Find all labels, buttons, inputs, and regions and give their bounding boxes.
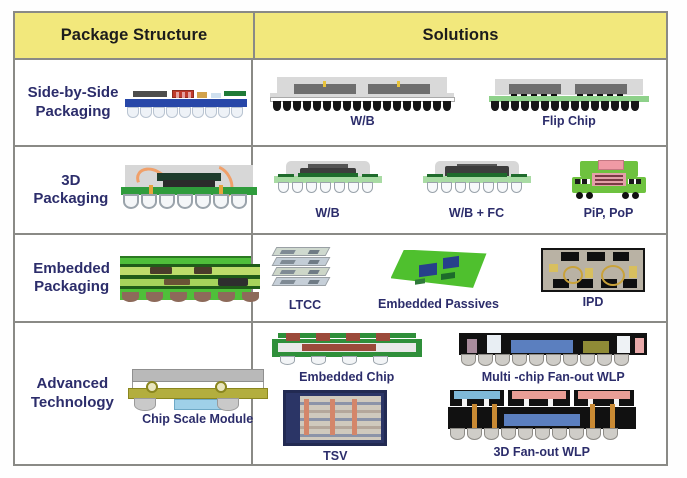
solution-caption: 3D Fan-out WLP bbox=[493, 445, 590, 459]
embedded-multilayer-pcb-cross-section-icon bbox=[120, 256, 251, 300]
solution-item: IPD bbox=[541, 248, 645, 309]
structure-cell-embedded-packaging: Embedded Packaging bbox=[15, 235, 253, 321]
solution-item: Embedded Passives bbox=[378, 246, 499, 311]
solution-caption: Multi -chip Fan-out WLP bbox=[482, 370, 625, 384]
row-label-embedded-packaging: Embedded Packaging bbox=[23, 260, 120, 297]
solution-caption: IPD bbox=[583, 295, 604, 309]
side-by-side-package-cross-section-icon bbox=[125, 85, 247, 121]
package-in-package-on-package-icon bbox=[572, 161, 646, 203]
embedded-chip-cross-section-icon bbox=[272, 333, 422, 367]
solution-item: W/B bbox=[274, 161, 382, 220]
tsv-cross-section-micrograph-icon bbox=[283, 390, 387, 446]
wire-bond-module-cross-section-icon bbox=[270, 77, 455, 111]
header-package-structure: Package Structure bbox=[15, 13, 255, 58]
row-label-side-by-side: Side-by-Side Packaging bbox=[21, 84, 125, 121]
structure-cell-advanced-technology: Advanced Technology Chip Scale Module bbox=[15, 323, 253, 464]
table: Package Structure Solutions Side-by-Side… bbox=[13, 11, 668, 466]
solution-item: W/B bbox=[270, 77, 455, 128]
table-row: 3D Packaging bbox=[15, 147, 666, 235]
solution-caption: LTCC bbox=[289, 298, 321, 312]
solution-caption: W/B bbox=[315, 206, 339, 220]
ltcc-layer-stack-icon bbox=[274, 245, 336, 295]
solution-caption: Embedded Passives bbox=[378, 297, 499, 311]
table-row: Side-by-Side Packaging bbox=[15, 60, 666, 147]
solutions-cell-3d-packaging: W/B W/B + FC bbox=[253, 147, 666, 233]
solution-item: W/B + FC bbox=[423, 161, 531, 220]
table-header-row: Package Structure Solutions bbox=[15, 13, 666, 60]
solution-item: Flip Chip bbox=[489, 77, 649, 128]
table-row: Advanced Technology Chip Scale Module bbox=[15, 323, 666, 464]
packaging-technology-table: Package Structure Solutions Side-by-Side… bbox=[0, 0, 687, 478]
solutions-cell-embedded-packaging: LTCC Embedded Passives bbox=[253, 235, 666, 321]
table-row: Embedded Packaging LTCC bbox=[15, 235, 666, 323]
row-label-3d-packaging: 3D Packaging bbox=[21, 172, 121, 209]
solution-caption: Flip Chip bbox=[542, 114, 595, 128]
solutions-cell-advanced-technology: Embedded Chip Multi -chip Fan-out WLP bbox=[253, 323, 666, 464]
solution-caption: Embedded Chip bbox=[299, 370, 394, 384]
solution-item: PiP, PoP bbox=[572, 161, 646, 220]
wire-bond-stacked-die-icon bbox=[274, 161, 382, 203]
integrated-passive-device-die-icon bbox=[541, 248, 645, 292]
solution-item: LTCC bbox=[274, 245, 336, 312]
solution-caption: TSV bbox=[323, 449, 347, 463]
solution-caption: W/B bbox=[350, 114, 374, 128]
solution-caption: PiP, PoP bbox=[584, 206, 634, 220]
chip-scale-module-cross-section-icon: Chip Scale Module bbox=[122, 369, 251, 419]
row-label-advanced-technology: Advanced Technology bbox=[23, 375, 122, 412]
header-solutions: Solutions bbox=[255, 13, 666, 58]
multi-chip-fan-out-wlp-cross-section-icon bbox=[459, 333, 647, 367]
solution-item: 3D Fan-out WLP bbox=[448, 390, 636, 459]
solution-item: TSV bbox=[283, 390, 387, 463]
solution-item: Multi -chip Fan-out WLP bbox=[459, 333, 647, 384]
solutions-cell-side-by-side: W/B Flip Chip bbox=[253, 60, 666, 145]
structure-cell-3d-packaging: 3D Packaging bbox=[15, 147, 253, 233]
solution-caption: W/B + FC bbox=[449, 206, 504, 220]
flip-chip-module-cross-section-icon bbox=[489, 77, 649, 111]
3d-fan-out-wlp-cross-section-icon bbox=[448, 390, 636, 442]
embedded-passives-board-icon bbox=[391, 246, 487, 294]
structure-cell-side-by-side: Side-by-Side Packaging bbox=[15, 60, 253, 145]
solution-item: Embedded Chip bbox=[272, 333, 422, 384]
stacked-die-3d-package-cross-section-icon bbox=[121, 165, 251, 215]
wire-bond-plus-flip-chip-icon bbox=[423, 161, 531, 203]
structure-caption: Chip Scale Module bbox=[122, 412, 274, 426]
